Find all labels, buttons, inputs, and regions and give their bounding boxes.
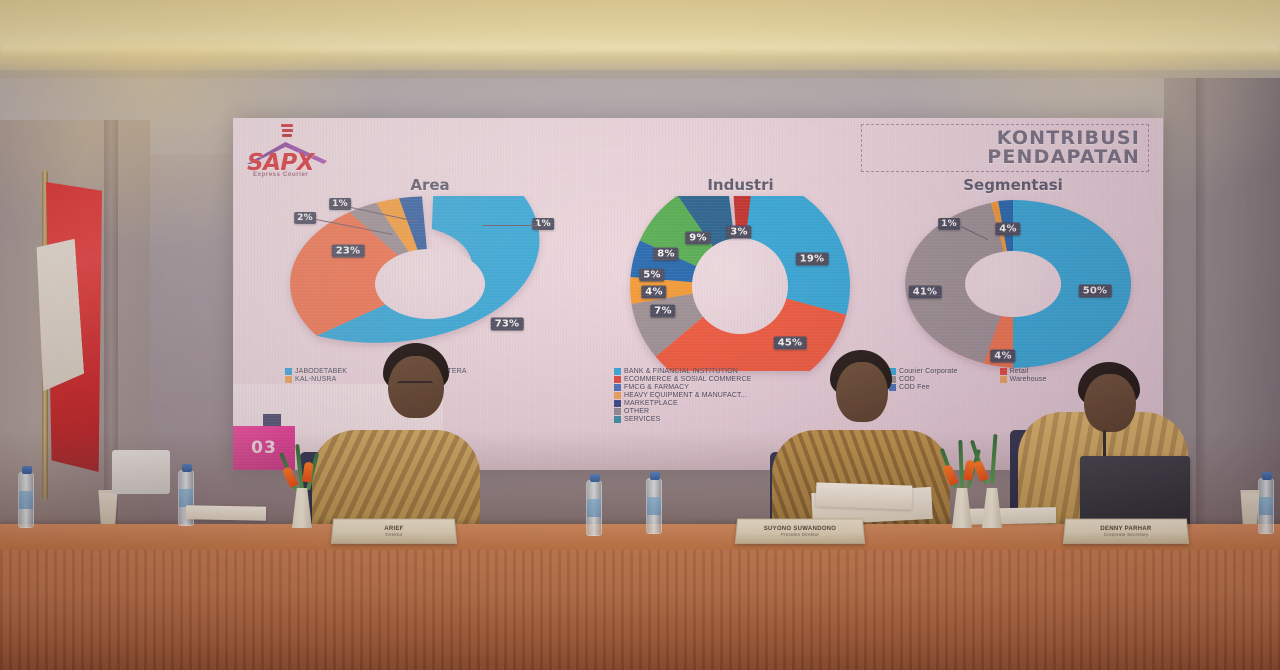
bottle-label xyxy=(1259,497,1273,515)
presentation-screen: SAPX Express Courier KONTRIBUSI PENDAPAT… xyxy=(233,118,1163,470)
water-bottle[interactable] xyxy=(18,472,34,528)
chart-segmentasi-legend-col1: Courier Corporate COD COD Fee xyxy=(889,368,958,391)
open-book[interactable] xyxy=(816,482,913,509)
chart-area-label-1b: 1% xyxy=(532,218,554,230)
water-bottle[interactable] xyxy=(646,478,662,534)
legend-swatch-icon xyxy=(614,368,621,375)
chart-segmentasi-label-1: 1% xyxy=(938,218,960,230)
legend-swatch-icon xyxy=(614,376,621,383)
legend-label: Courier Corporate xyxy=(899,368,958,375)
table-skirt xyxy=(0,550,1280,670)
water-bottle[interactable] xyxy=(1258,478,1274,534)
cove-light xyxy=(0,44,1280,54)
chart-industri-label-7: 7% xyxy=(650,305,675,318)
bottle-label xyxy=(587,499,601,517)
slide-title: KONTRIBUSI PENDAPATAN xyxy=(861,124,1149,172)
nameplate-role: Presiden Direktur xyxy=(781,531,819,536)
legend-item[interactable]: COD xyxy=(889,376,958,383)
water-bottle[interactable] xyxy=(586,480,602,536)
legend-swatch-icon xyxy=(614,408,621,415)
legend-label: FMCG & FARMACY xyxy=(624,384,689,391)
legend-swatch-icon xyxy=(285,376,292,383)
document-sheet[interactable] xyxy=(186,505,266,520)
chart-industri-hole xyxy=(692,238,788,334)
nameplate-left: ARIEF Direktur xyxy=(331,519,457,544)
legend-label: COD xyxy=(899,376,915,383)
chart-area-leader-3 xyxy=(482,225,538,226)
legend-label: JABODETABEK xyxy=(295,368,347,375)
bottle-label xyxy=(647,497,661,515)
chart-industri-label-5: 5% xyxy=(639,269,664,282)
chart-segmentasi-title: Segmentasi xyxy=(883,176,1143,194)
chart-area-title: Area xyxy=(285,176,575,194)
flower xyxy=(942,464,958,486)
chart-industri-donut: 19% 45% 7% 4% 5% 8% 9% 3% xyxy=(608,196,873,371)
nameplate-right: DENNY PARHAR Corporate Secretary xyxy=(1063,519,1189,544)
chart-industri: Industri xyxy=(608,176,873,371)
conference-room-photo: SAPX Express Courier KONTRIBUSI PENDAPAT… xyxy=(0,0,1280,670)
chart-industri-label-45: 45% xyxy=(774,337,807,350)
legend-label: MARKETPLACE xyxy=(624,400,678,407)
flower xyxy=(973,460,989,482)
chart-segmentasi-donut: 50% 4% 41% 1% 4% xyxy=(883,196,1143,371)
bottle-cap xyxy=(1262,472,1272,480)
chart-area-legend-col1: JABODETABEK KAL-NUSRA xyxy=(285,368,347,383)
legend-item[interactable]: BANK & FINANCIAL INSTITUTION xyxy=(614,368,751,375)
legend-label: KAL-NUSRA xyxy=(295,376,336,383)
legend-item[interactable]: Warehouse xyxy=(1000,376,1047,383)
legend-label: OTHER xyxy=(624,408,649,415)
chart-area-hole xyxy=(375,249,485,319)
bottle-cap xyxy=(182,464,192,472)
bottle-cap xyxy=(650,472,660,480)
chart-segmentasi-legend-col2: Retail Warehouse xyxy=(1000,368,1047,391)
chart-area-label-1a: 1% xyxy=(329,198,351,210)
legend-item[interactable]: ECOMMERCE & SOSIAL COMMERCE xyxy=(614,376,751,383)
chart-industri-label-8: 8% xyxy=(653,248,678,261)
flower-arrangement-left xyxy=(268,450,328,530)
legend-swatch-icon xyxy=(614,384,621,391)
chart-segmentasi: Segmentasi xyxy=(883,176,1143,371)
legend-item[interactable]: JABODETABEK xyxy=(285,368,347,375)
laptop-left[interactable] xyxy=(112,450,170,494)
legend-item[interactable]: KAL-NUSRA xyxy=(285,376,347,383)
legend-label: Warehouse xyxy=(1010,376,1047,383)
person-right-head xyxy=(1084,374,1136,432)
legend-label: Retail xyxy=(1010,368,1029,375)
person-left-glasses xyxy=(397,381,433,389)
legend-swatch-icon xyxy=(1000,368,1007,375)
bottle-label xyxy=(179,489,193,507)
legend-item[interactable]: MARKETPLACE xyxy=(614,400,751,407)
legend-label: HEAVY EQUIPMENT & MANUFACT... xyxy=(624,392,747,399)
legend-item[interactable]: OTHER xyxy=(614,408,751,415)
sapx-logo: SAPX Express Courier xyxy=(243,124,329,182)
legend-swatch-icon xyxy=(614,400,621,407)
nameplate-role: Direktur xyxy=(385,531,402,536)
chart-area-label-2: 2% xyxy=(294,212,316,224)
legend-item[interactable]: SERVICES xyxy=(614,416,751,423)
legend-label: BANK & FINANCIAL INSTITUTION xyxy=(624,368,738,375)
indonesian-flag xyxy=(46,182,102,472)
chart-segmentasi-hole xyxy=(965,251,1061,317)
legend-item[interactable]: Courier Corporate xyxy=(889,368,958,375)
chart-industri-label-3: 3% xyxy=(726,226,751,239)
laptop-right[interactable] xyxy=(1080,456,1190,524)
chart-industri-label-19: 19% xyxy=(796,253,829,266)
legend-item[interactable]: Retail xyxy=(1000,368,1047,375)
nameplate-center: SUYONO SUWANDONO Presiden Direktur xyxy=(735,519,865,544)
vase xyxy=(982,488,1002,528)
legend-label: COD Fee xyxy=(899,384,930,391)
legend-label: SERVICES xyxy=(624,416,660,423)
legend-swatch-icon xyxy=(614,416,621,423)
bottle-cap xyxy=(590,474,600,482)
person-center-head xyxy=(836,362,888,422)
chart-area: Area xyxy=(285,176,575,371)
leaf xyxy=(990,434,997,484)
bottle-cap xyxy=(22,466,32,474)
chart-industri-legend-col: BANK & FINANCIAL INSTITUTION ECOMMERCE &… xyxy=(614,368,751,423)
flower-arrangement-right xyxy=(962,438,1016,530)
chart-area-label-23: 23% xyxy=(332,245,365,258)
chart-area-donut: 73% 23% 2% 1% 1% xyxy=(285,196,575,371)
bottle-label xyxy=(19,491,33,509)
chart-segmentasi-label-4a: 4% xyxy=(990,350,1015,363)
flower xyxy=(282,466,299,488)
vase xyxy=(292,488,312,528)
chart-area-label-73: 73% xyxy=(491,318,524,331)
legend-item[interactable]: FMCG & FARMACY xyxy=(614,384,751,391)
chart-industri-label-9: 9% xyxy=(685,232,710,245)
ceiling xyxy=(0,0,1280,70)
chart-segmentasi-label-41: 41% xyxy=(909,286,942,299)
logo-dots-icon xyxy=(281,124,293,142)
chart-segmentasi-label-4b: 4% xyxy=(995,223,1020,236)
legend-item[interactable]: HEAVY EQUIPMENT & MANUFACT... xyxy=(614,392,751,399)
slide-title-line2: PENDAPATAN xyxy=(987,148,1140,167)
legend-label: ECOMMERCE & SOSIAL COMMERCE xyxy=(624,376,751,383)
chart-industri-title: Industri xyxy=(608,176,873,194)
chart-industri-label-4: 4% xyxy=(641,286,666,299)
legend-item[interactable]: COD Fee xyxy=(889,384,958,391)
legend-swatch-icon xyxy=(285,368,292,375)
legend-swatch-icon xyxy=(614,392,621,399)
nameplate-role: Corporate Secretary xyxy=(1104,531,1149,536)
legend-swatch-icon xyxy=(1000,376,1007,383)
chart-segmentasi-label-50: 50% xyxy=(1079,285,1112,298)
